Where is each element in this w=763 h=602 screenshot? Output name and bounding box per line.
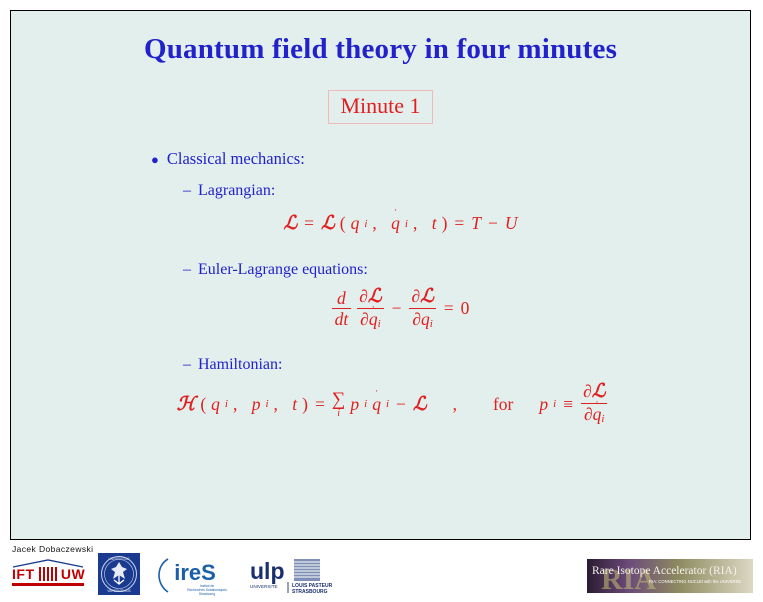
eq-el-den-partial-qdot: ∂˙qi: [357, 308, 383, 331]
eq-ham-summation: ∑ i: [332, 390, 346, 419]
section-label-wrap: Minute 1: [11, 90, 750, 124]
footer: Jacek Dobaczewski IFT UW UNIVERSITAS VAR…: [0, 541, 763, 597]
slide-content: ● Classical mechanics: – Lagrangian: ℒ =…: [11, 149, 750, 426]
eq-lagrangian-t: t: [432, 213, 437, 234]
bullet-dot-icon: ●: [151, 153, 159, 166]
ift-uw-logo: IFT UW: [12, 555, 84, 591]
subitem-label: Hamiltonian:: [198, 356, 282, 374]
ulp-mark-icon: ulp UNIVERSITE LOUIS PASTEUR STRASBOURG: [248, 555, 334, 595]
eq-lagrangian-U: U: [505, 213, 518, 234]
eq-lagrangian-comma-1: ,: [372, 213, 376, 234]
eq-ham-p-index: i: [265, 398, 268, 410]
equation-lagrangian: ℒ = ℒ(qi, ˙qi, t) = T − U: [11, 212, 750, 235]
eq-ham-equals: =: [313, 394, 327, 415]
eq-el-q-index: i: [430, 318, 433, 330]
eq-ham-comma-1: ,: [233, 394, 237, 415]
eq-el-L-2: ℒ: [420, 286, 434, 307]
eq-el-num-partial-L-2: ∂ℒ: [408, 287, 436, 308]
eq-el-frac-dLdqdot: ∂ℒ ∂˙qi: [356, 287, 384, 330]
eq-ham-p: p: [252, 394, 261, 415]
subitem-hamiltonian: – Hamiltonian:: [183, 356, 750, 374]
eq-ham-p2: p: [350, 394, 359, 415]
dash-icon: –: [183, 356, 191, 374]
subitem-label: Lagrangian:: [198, 182, 275, 200]
eq-el-partial-3: ∂: [411, 286, 420, 306]
eq-el-dt: dt: [332, 308, 352, 328]
eq-lagrangian-q-index: i: [364, 218, 367, 230]
eq-el-qdot-index: i: [378, 318, 381, 330]
eq-ham-H: ℋ: [177, 393, 196, 416]
ria-logo: RIA Rare Isotope Accelerator (RIA) RIA: …: [587, 559, 753, 593]
eq-ham-sum-index: i: [337, 409, 340, 419]
eq-ham-comma-3: ,: [453, 394, 457, 415]
ria-tagline: RIA: CONNECTING NUCLEI with the UNIVERSE: [649, 579, 741, 584]
ria-title: Rare Isotope Accelerator (RIA): [592, 565, 737, 577]
eq-ham-qdot-mark: ˙: [375, 388, 379, 400]
eq-ham-den-partial-qdot: ∂˙qi: [581, 403, 607, 426]
eq-lagrangian-minus: −: [486, 213, 500, 234]
eq-el-partial-4: ∂: [412, 309, 421, 329]
eq-ham-L: ℒ: [413, 393, 427, 416]
eq-ham-p3-index: i: [553, 398, 556, 410]
eq-lagrangian-qdot-index: i: [405, 218, 408, 230]
eq-lagrangian-q: q: [351, 213, 360, 234]
eq-lagrangian-L2: ℒ: [321, 212, 335, 235]
eq-ham-for: for: [493, 394, 513, 415]
slide-frame: Quantum field theory in four minutes Min…: [10, 10, 751, 540]
eq-ham-p2-index: i: [364, 398, 367, 410]
eq-ham-partial-1: ∂: [583, 381, 592, 401]
uw-label: UW: [61, 566, 85, 582]
eq-ham-close-paren: ): [302, 394, 308, 415]
subitem-lagrangian: – Lagrangian:: [183, 182, 750, 200]
eq-ham-partial-2: ∂: [584, 404, 593, 424]
eq-el-qdot-mark: ˙: [371, 304, 375, 316]
eq-ham-q: q: [211, 394, 220, 415]
eq-lagrangian-close-paren: ): [442, 213, 448, 234]
eq-ham-frac-dLdqdot: ∂ℒ ∂˙qi: [580, 382, 608, 425]
eq-lagrangian-L: ℒ: [283, 212, 297, 235]
ires-mark-icon: ireS Institut de Recherches Subatomiques…: [155, 553, 235, 597]
ift-label: IFT: [12, 566, 35, 582]
eq-ham-p3: p: [539, 394, 548, 415]
svg-text:Strasbourg: Strasbourg: [199, 592, 215, 596]
eq-el-d: d: [334, 289, 349, 308]
eq-lagrangian-comma-2: ,: [413, 213, 417, 234]
section-label: Minute 1: [328, 90, 432, 124]
bullet-label: Classical mechanics:: [167, 149, 305, 169]
eq-lagrangian-open-paren: (: [340, 213, 346, 234]
ift-uw-baseline: [12, 583, 84, 586]
subitem-label: Euler-Lagrange equations:: [198, 261, 368, 279]
eagle-seal-icon: UNIVERSITAS VARSOVIENSIS: [98, 553, 140, 595]
eq-el-zero: 0: [461, 298, 470, 319]
eq-lagrangian-T: T: [471, 213, 481, 234]
dash-icon: –: [183, 261, 191, 279]
eq-el-frac-ddt: d dt: [332, 289, 352, 329]
equation-hamiltonian: ℋ(qi, pi, t) = ∑ i pi˙qi − ℒ , for pi ≡ …: [11, 382, 750, 425]
university-of-warsaw-seal: UNIVERSITAS VARSOVIENSIS: [98, 553, 140, 595]
eq-ham-q-index: i: [225, 398, 228, 410]
eq-el-den-partial-q: ∂qi: [409, 308, 435, 331]
columns-icon: [38, 567, 58, 581]
eq-lagrangian-qdot-mark: ˙: [394, 207, 398, 219]
eq-el-partial-2: ∂: [360, 309, 369, 329]
equation-euler-lagrange: d dt ∂ℒ ∂˙qi − ∂ℒ ∂qi = 0: [11, 287, 750, 330]
author-name: Jacek Dobaczewski: [12, 544, 93, 554]
svg-text:VARSOVIENSIS: VARSOVIENSIS: [107, 589, 131, 593]
eq-ham-qdot-index: i: [386, 398, 389, 410]
svg-text:UNIVERSITAS: UNIVERSITAS: [108, 557, 129, 561]
subitem-euler-lagrange: – Euler-Lagrange equations:: [183, 261, 750, 279]
eq-ham-qdot2-mark: ˙: [595, 399, 599, 411]
eq-el-minus: −: [390, 298, 404, 319]
eq-el-equals: =: [442, 298, 456, 319]
sigma-icon: ∑: [332, 390, 346, 409]
eq-ham-open-paren: (: [200, 394, 206, 415]
dash-icon: –: [183, 182, 191, 200]
eq-ham-qdot2-index: i: [601, 413, 604, 425]
eq-lagrangian-equals-2: =: [452, 213, 466, 234]
svg-text:ireS: ireS: [174, 560, 216, 585]
eq-el-frac-dLdq: ∂ℒ ∂qi: [408, 287, 436, 330]
svg-text:STRASBOURG: STRASBOURG: [292, 589, 328, 595]
page-title: Quantum field theory in four minutes: [11, 33, 750, 66]
eq-ham-t: t: [292, 394, 297, 415]
eq-ham-minus: −: [394, 394, 408, 415]
ires-logo: ireS Institut de Recherches Subatomiques…: [155, 553, 235, 597]
eq-el-q: q: [421, 309, 430, 329]
eq-el-partial-1: ∂: [359, 286, 368, 306]
bullet-classical-mechanics: ● Classical mechanics:: [151, 149, 750, 169]
eq-ham-comma-2: ,: [274, 394, 278, 415]
eq-lagrangian-equals-1: =: [302, 213, 316, 234]
ria-banner-icon: RIA Rare Isotope Accelerator (RIA) RIA: …: [587, 559, 753, 593]
svg-text:ulp: ulp: [250, 558, 285, 584]
eq-ham-equiv: ≡: [561, 394, 575, 415]
ulp-universite-label: UNIVERSITE: [250, 584, 278, 589]
ulp-logo: ulp UNIVERSITE LOUIS PASTEUR STRASBOURG: [248, 555, 334, 595]
